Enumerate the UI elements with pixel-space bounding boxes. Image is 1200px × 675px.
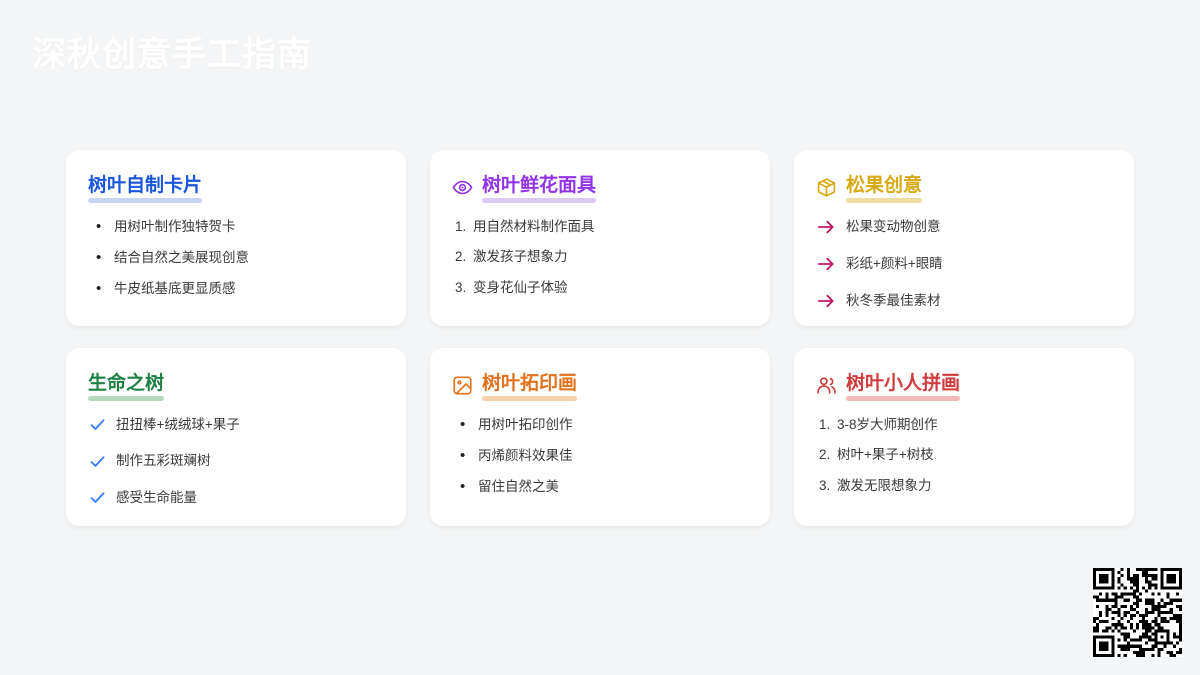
card-header: 树叶小人拼画 — [816, 372, 1112, 399]
card-header: 树叶拓印画 — [452, 372, 748, 399]
list-item-text: 彩纸+颜料+眼睛 — [846, 254, 943, 274]
list-item-text: 秋冬季最佳素材 — [846, 291, 941, 311]
list-item: 制作五彩斑斓树 — [88, 451, 384, 471]
list-item: 1.3-8岁大师期创作 — [816, 415, 1112, 435]
card-title: 树叶小人拼画 — [846, 372, 960, 399]
arrow-right-icon — [816, 291, 846, 311]
bullet-icon: • — [90, 248, 114, 268]
list-item-text: 激发孩子想象力 — [473, 247, 568, 267]
card-title: 树叶拓印画 — [482, 372, 577, 399]
list-number-marker: 3. — [452, 278, 473, 298]
list-item: 彩纸+颜料+眼睛 — [816, 254, 1112, 274]
list-number-marker: 1. — [816, 415, 837, 435]
page-title: 深秋创意手工指南 — [32, 33, 312, 77]
card-tree-of-life[interactable]: 生命之树扭扭棒+绒绒球+果子制作五彩斑斓树感受生命能量 — [66, 348, 406, 526]
card-title: 松果创意 — [846, 174, 922, 201]
list-item: 1.用自然材料制作面具 — [452, 217, 748, 237]
check-icon — [88, 415, 116, 434]
list-number-marker: 1. — [452, 217, 473, 237]
arrow-right-icon — [816, 217, 846, 237]
bullet-icon: • — [454, 446, 478, 466]
card-leaf-print-painting[interactable]: 树叶拓印画•用树叶拓印创作•丙烯颜料效果佳•留住自然之美 — [430, 348, 770, 526]
list-item-text: 3-8岁大师期创作 — [837, 415, 938, 435]
list-item-text: 松果变动物创意 — [846, 217, 941, 237]
list-item-text: 留住自然之美 — [478, 477, 559, 497]
eye-icon — [452, 177, 473, 198]
card-list: •用树叶拓印创作•丙烯颜料效果佳•留住自然之美 — [452, 415, 748, 498]
list-item-text: 制作五彩斑斓树 — [116, 451, 211, 471]
card-pinecone-creative[interactable]: 松果创意松果变动物创意彩纸+颜料+眼睛秋冬季最佳素材 — [794, 150, 1134, 326]
bullet-icon: • — [454, 415, 478, 435]
card-leaf-figure-collage[interactable]: 树叶小人拼画1.3-8岁大师期创作2.树叶+果子+树枝3.激发无限想象力 — [794, 348, 1134, 526]
bullet-icon: • — [90, 279, 114, 299]
list-item: 3.激发无限想象力 — [816, 476, 1112, 496]
list-item-text: 结合自然之美展现创意 — [114, 248, 249, 268]
list-item: 2.激发孩子想象力 — [452, 247, 748, 267]
list-item: •留住自然之美 — [452, 477, 748, 497]
card-leaf-handmade-card[interactable]: 树叶自制卡片•用树叶制作独特贺卡•结合自然之美展现创意•牛皮纸基底更显质感 — [66, 150, 406, 326]
list-item-text: 用树叶制作独特贺卡 — [114, 217, 236, 237]
card-header: 松果创意 — [816, 174, 1112, 201]
list-item: •结合自然之美展现创意 — [88, 248, 384, 268]
card-header: 树叶自制卡片 — [88, 174, 384, 201]
card-title: 树叶自制卡片 — [88, 174, 202, 201]
list-item-text: 感受生命能量 — [116, 488, 197, 508]
list-item-text: 变身花仙子体验 — [473, 278, 568, 298]
card-list: 松果变动物创意彩纸+颜料+眼睛秋冬季最佳素材 — [816, 217, 1112, 311]
list-item: 秋冬季最佳素材 — [816, 291, 1112, 311]
card-grid: 树叶自制卡片•用树叶制作独特贺卡•结合自然之美展现创意•牛皮纸基底更显质感树叶鲜… — [66, 150, 1134, 526]
card-leaf-flower-mask[interactable]: 树叶鲜花面具1.用自然材料制作面具2.激发孩子想象力3.变身花仙子体验 — [430, 150, 770, 326]
check-icon — [88, 488, 116, 507]
list-item-text: 用树叶拓印创作 — [478, 415, 573, 435]
list-item-text: 激发无限想象力 — [837, 476, 932, 496]
card-header: 树叶鲜花面具 — [452, 174, 748, 201]
bullet-icon: • — [454, 477, 478, 497]
qr-code[interactable] — [1093, 568, 1182, 657]
package-icon — [816, 177, 837, 198]
arrow-right-icon — [816, 254, 846, 274]
card-list: 1.用自然材料制作面具2.激发孩子想象力3.变身花仙子体验 — [452, 217, 748, 298]
list-number-marker: 2. — [816, 445, 837, 465]
list-item: 2.树叶+果子+树枝 — [816, 445, 1112, 465]
list-item-text: 丙烯颜料效果佳 — [478, 446, 573, 466]
list-item: •牛皮纸基底更显质感 — [88, 279, 384, 299]
list-item: 3.变身花仙子体验 — [452, 278, 748, 298]
list-item: •用树叶制作独特贺卡 — [88, 217, 384, 237]
list-item-text: 牛皮纸基底更显质感 — [114, 279, 236, 299]
card-title: 生命之树 — [88, 372, 164, 399]
card-list: 1.3-8岁大师期创作2.树叶+果子+树枝3.激发无限想象力 — [816, 415, 1112, 496]
qr-code-canvas — [1093, 568, 1182, 657]
list-item-text: 扭扭棒+绒绒球+果子 — [116, 415, 240, 435]
list-item-text: 树叶+果子+树枝 — [837, 445, 934, 465]
card-header: 生命之树 — [88, 372, 384, 399]
card-list: •用树叶制作独特贺卡•结合自然之美展现创意•牛皮纸基底更显质感 — [88, 217, 384, 300]
users-icon — [816, 375, 837, 396]
card-list: 扭扭棒+绒绒球+果子制作五彩斑斓树感受生命能量 — [88, 415, 384, 508]
list-item: •用树叶拓印创作 — [452, 415, 748, 435]
list-number-marker: 3. — [816, 476, 837, 496]
bullet-icon: • — [90, 217, 114, 237]
card-title: 树叶鲜花面具 — [482, 174, 596, 201]
list-item: 松果变动物创意 — [816, 217, 1112, 237]
list-number-marker: 2. — [452, 247, 473, 267]
list-item: 感受生命能量 — [88, 488, 384, 508]
list-item: 扭扭棒+绒绒球+果子 — [88, 415, 384, 435]
image-icon — [452, 375, 473, 396]
list-item: •丙烯颜料效果佳 — [452, 446, 748, 466]
check-icon — [88, 452, 116, 471]
list-item-text: 用自然材料制作面具 — [473, 217, 595, 237]
